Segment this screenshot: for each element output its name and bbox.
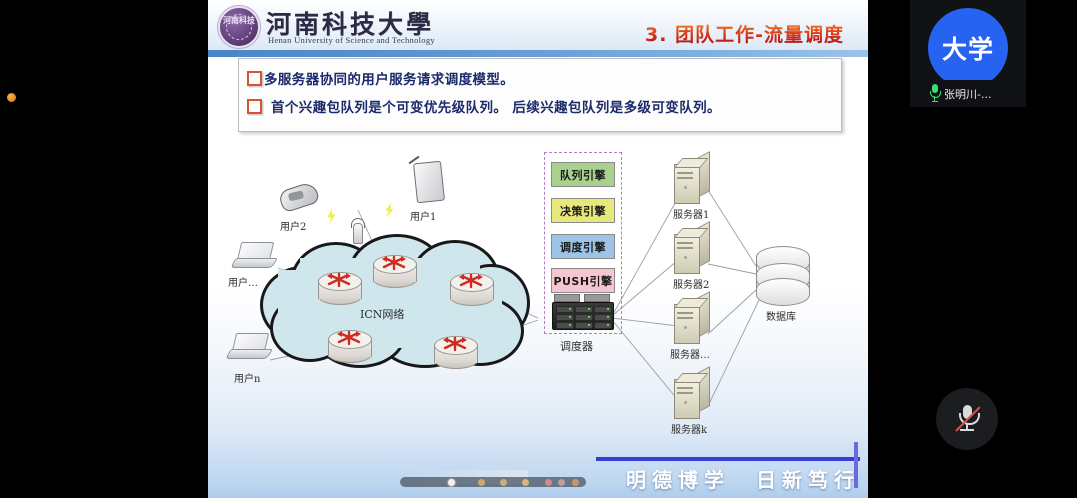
client-label: 用户2 [280, 218, 306, 233]
server-node [674, 228, 708, 272]
nav-dot[interactable] [558, 479, 565, 486]
avatar-text: 大学 [942, 30, 994, 66]
university-seal-icon: 河南科技 [218, 6, 260, 48]
participant-tile[interactable]: 大学 张明川-... [910, 0, 1026, 107]
nav-dot[interactable] [478, 479, 485, 486]
router-arrows-icon [440, 336, 470, 353]
scheduler-rack-top [554, 294, 610, 301]
server-label: 服务器k [671, 421, 707, 436]
footer-accent-line [596, 457, 860, 461]
nav-dot-active[interactable] [448, 479, 455, 486]
client-device-tablet [415, 162, 443, 202]
participant-name: 张明川-... [944, 86, 991, 102]
bullet-square-icon [247, 71, 262, 86]
presentation-slide[interactable]: 河南科技 河南科技大學 Henan University of Science … [208, 0, 868, 498]
engine-label: 调度引擎 [560, 239, 606, 255]
router-node [450, 273, 492, 303]
microphone-muted-button[interactable] [936, 388, 998, 450]
client-device-laptop [228, 333, 268, 360]
slide-title: 3. 团队工作-流量调度 [645, 20, 844, 47]
server-label: 服务器… [670, 346, 710, 361]
client-device-laptop [233, 242, 273, 269]
bullet-text: 多服务器协同的用户服务请求调度模型。 [264, 68, 514, 88]
bullet-square-icon [247, 99, 262, 114]
bullet-text: 首个兴趣包队列是个可变优先级队列。 后续兴趣包队列是多级可变队列。 [271, 96, 721, 116]
client-label: 用户1 [410, 208, 436, 223]
database-cylinder-icon [756, 246, 808, 304]
architecture-diagram: ICN网络 [208, 138, 868, 458]
router-arrows-icon [324, 272, 354, 289]
engine-label: 队列引擎 [560, 167, 606, 183]
microphone-icon [930, 84, 939, 102]
header-divider-band [208, 50, 868, 57]
engine-label: PUSH引擎 [553, 273, 612, 289]
nav-dot[interactable] [500, 479, 507, 486]
slide-navigation-bar[interactable] [400, 477, 586, 487]
database-label: 数据库 [766, 308, 796, 323]
scheduler-rack-icon [552, 302, 614, 330]
client-label: 用户… [228, 274, 258, 289]
client-label: 用户n [234, 370, 260, 385]
engine-label: 决策引擎 [560, 203, 606, 219]
seal-text: 河南科技 [220, 17, 258, 26]
router-node [328, 330, 370, 360]
nav-dot[interactable] [572, 479, 579, 486]
recording-dot-icon [7, 93, 16, 102]
server-node [674, 373, 708, 417]
screen-root: 河南科技 河南科技大學 Henan University of Science … [0, 0, 1077, 498]
university-name-en: Henan University of Science and Technolo… [268, 35, 435, 45]
server-node [674, 298, 708, 342]
bullet-callout-box: 多服务器协同的用户服务请求调度模型。 首个兴趣包队列是个可变优先级队列。 后续兴… [238, 58, 842, 132]
router-node [373, 255, 415, 285]
nav-dot[interactable] [545, 479, 552, 486]
bullet-item: 多服务器协同的用户服务请求调度模型。 [247, 68, 841, 88]
router-arrows-icon [334, 330, 364, 347]
cloud-label: ICN网络 [360, 306, 404, 322]
slide-header: 河南科技 河南科技大學 Henan University of Science … [208, 0, 868, 50]
engine-box-decision: 决策引擎 [551, 198, 615, 223]
participant-avatar: 大学 [928, 8, 1008, 88]
nav-dot[interactable] [522, 479, 529, 486]
wireless-access-point-icon [350, 216, 364, 242]
engine-box-queue: 队列引擎 [551, 162, 615, 187]
engine-box-scheduling: 调度引擎 [551, 234, 615, 259]
university-motto: 明德博学 日新笃行 [626, 464, 860, 493]
router-node [318, 272, 360, 302]
server-label: 服务器2 [673, 276, 709, 291]
router-node [434, 336, 476, 366]
router-arrows-icon [379, 255, 409, 272]
bullet-item: 首个兴趣包队列是个可变优先级队列。 后续兴趣包队列是多级可变队列。 [247, 96, 841, 116]
engine-box-push: PUSH引擎 [551, 268, 615, 293]
server-label: 服务器1 [673, 206, 709, 221]
scheduler-label: 调度器 [560, 338, 593, 354]
server-node [674, 158, 708, 202]
client-device-mobile-phone [280, 180, 316, 210]
router-arrows-icon [456, 273, 486, 290]
